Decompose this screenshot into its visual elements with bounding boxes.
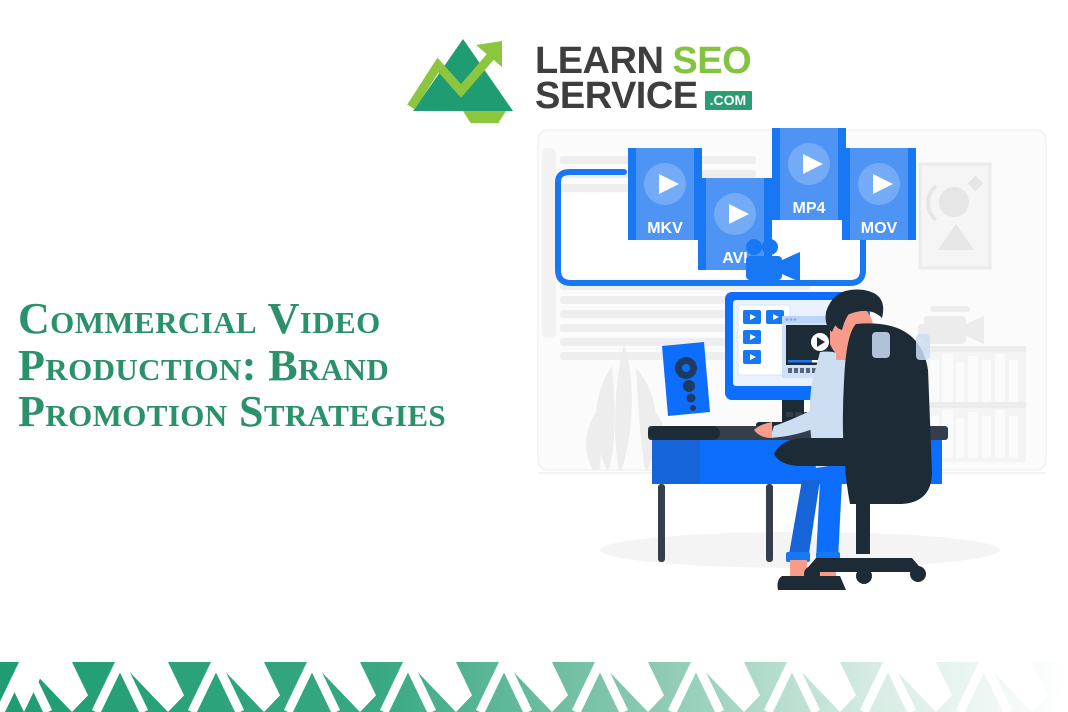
format-card-mkv: MKV [628,148,702,240]
logo-domain-badge: .COM [705,91,753,110]
format-label-mov: MOV [861,220,898,237]
format-label-mkv: MKV [647,220,683,237]
video-editing-workspace-illustration: MKV AVI MP4 [520,120,1068,590]
logo-wordmark: LEARN SEO SERVICE .COM [535,42,752,114]
logo-word-seo: SEO [672,44,751,79]
site-logo[interactable]: LEARN SEO SERVICE .COM [405,33,752,123]
format-card-mov: MOV [842,148,916,240]
logo-word-service: SERVICE [535,79,698,114]
title-line-3: Promotion Strategies [18,387,446,436]
wall-picture-frame [920,164,990,268]
format-card-mp4: MP4 [772,128,846,220]
speaker [662,342,710,416]
triangle-pattern-band [0,650,1068,712]
page-title: Commercial Video Production: Brand Promo… [18,296,488,436]
logo-mark-icon [405,33,521,123]
format-label-mp4: MP4 [793,200,826,217]
title-line-1: Commercial Video [18,294,381,343]
title-line-2: Production: Brand [18,341,389,390]
format-label-avi: AVI [722,250,747,267]
logo-word-learn: LEARN [535,44,663,79]
